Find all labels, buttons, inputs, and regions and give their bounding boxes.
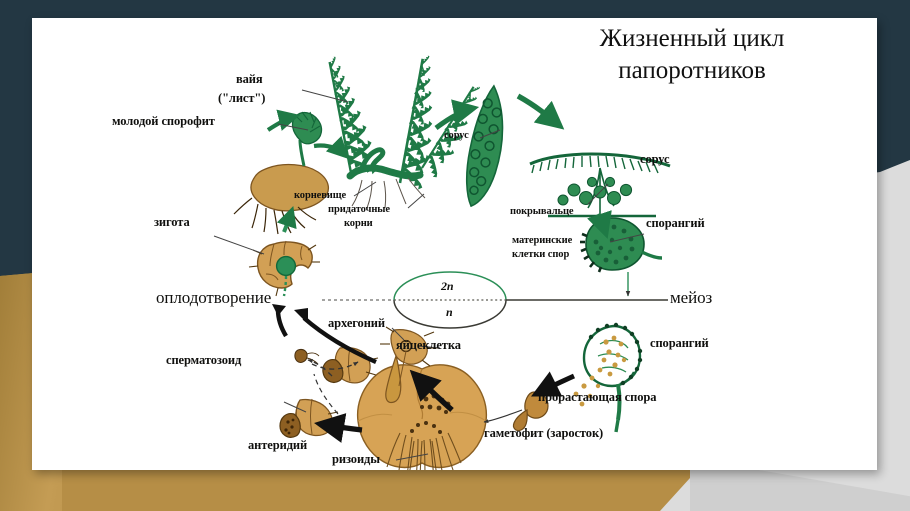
label-rhizome: корневище [294, 190, 346, 202]
label-haploid: п [446, 306, 453, 319]
label-leader-lines [214, 90, 644, 460]
label-adventitious-roots-1: придаточные [328, 204, 390, 216]
label-spore-mother-cells-1: материнские [512, 235, 572, 247]
label-germinating-spore: прорастающая спора [538, 390, 656, 404]
life-cycle-diagram: Жизненный цикл папоротников вайя ("лист"… [32, 18, 877, 470]
antheridium-releasing-art [323, 347, 378, 383]
label-egg-cell: яйцеклетка [396, 338, 461, 352]
title-line-2: папоротников [532, 55, 852, 87]
rhizome-art [350, 150, 425, 208]
fern-frond-art [327, 52, 496, 208]
label-sorus-big: сорус [640, 152, 670, 166]
label-rhizoids: ризоиды [332, 452, 380, 466]
cycle-arrows [268, 96, 628, 430]
label-spermatozoid: сперматозоид [166, 353, 241, 367]
label-sporangium-right: спорангий [650, 336, 709, 350]
label-young-sporophyte: молодой спорофит [112, 114, 215, 128]
open-sporangium-art [574, 323, 643, 432]
label-antheridium: антеридий [248, 438, 307, 452]
content-card: Жизненный цикл папоротников вайя ("лист"… [32, 18, 877, 470]
page-title: Жизненный цикл папоротников [532, 23, 852, 87]
title-line-1: Жизненный цикл [532, 23, 852, 55]
label-adventitious-roots-2: корни [344, 218, 373, 230]
label-gametophyte: гаметофит (заросток) [484, 426, 603, 440]
label-indusium: покрывальце [510, 206, 573, 218]
spermatozoid-art [295, 349, 319, 364]
label-zygote: зигота [154, 215, 190, 229]
slide: Жизненный цикл папоротников вайя ("лист"… [0, 0, 910, 511]
label-diploid: 2п [441, 280, 453, 293]
label-fertilization: оплодотворение [156, 288, 271, 307]
label-sporangium-top: спорангий [646, 216, 705, 230]
antheridium-art [280, 399, 338, 437]
embryo-on-gametophyte-art [234, 112, 328, 234]
label-archegonium: архегоний [328, 316, 385, 330]
label-meiosis: мейоз [670, 288, 712, 307]
label-frond-alt: ("лист") [218, 91, 265, 105]
label-spore-mother-cells-2: клетки спор [512, 249, 569, 261]
pinnule-with-sori-art [463, 84, 509, 209]
label-sorus-small: сорус [444, 130, 469, 142]
label-frond: вайя [236, 72, 263, 86]
